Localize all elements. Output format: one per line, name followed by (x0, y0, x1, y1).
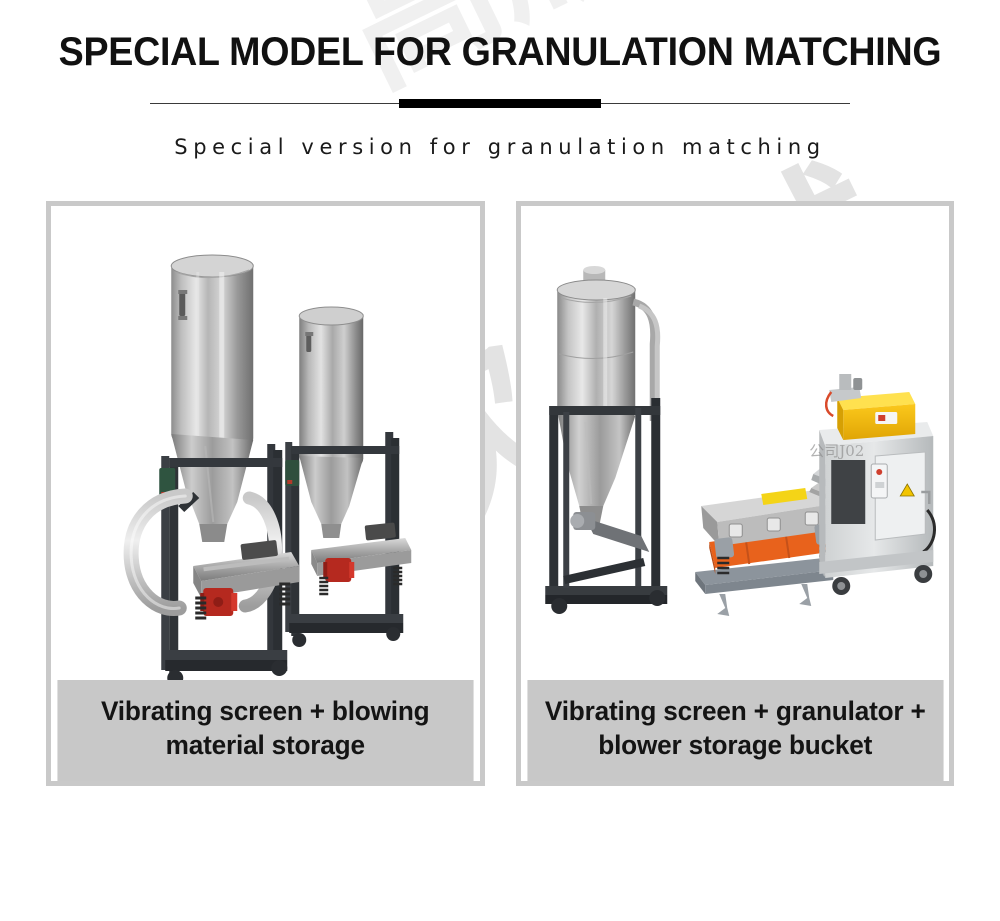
title-divider (150, 98, 850, 110)
divider-accent-bar (399, 99, 601, 108)
product-caption-left: Vibrating screen + blowing material stor… (57, 680, 473, 781)
product-card-list: Vibrating screen + blowing material stor… (0, 201, 1000, 786)
product-photo-right: 公司J02 (521, 206, 950, 680)
vibrating-screen-blowing-storage-illustration (51, 206, 480, 680)
product-feature-page: 高欣机械 高欣机械 SPECIAL MODEL FOR GRANULATION … (0, 0, 1000, 921)
product-card-left[interactable]: Vibrating screen + blowing material stor… (46, 201, 485, 786)
vibrating-screen-granulator-blower-illustration: 公司J02 (521, 206, 950, 680)
page-subtitle: Special version for granulation matching (0, 135, 1000, 159)
product-photo-left (51, 206, 480, 680)
product-card-right[interactable]: 公司J02 Vibrating screen + granulator + bl… (516, 201, 955, 786)
photo-inline-label: 公司J02 (809, 442, 864, 460)
page-title: SPECIAL MODEL FOR GRANULATION MATCHING (30, 28, 970, 76)
page-header: SPECIAL MODEL FOR GRANULATION MATCHING S… (0, 0, 1000, 159)
product-caption-right: Vibrating screen + granulator + blower s… (527, 680, 943, 781)
